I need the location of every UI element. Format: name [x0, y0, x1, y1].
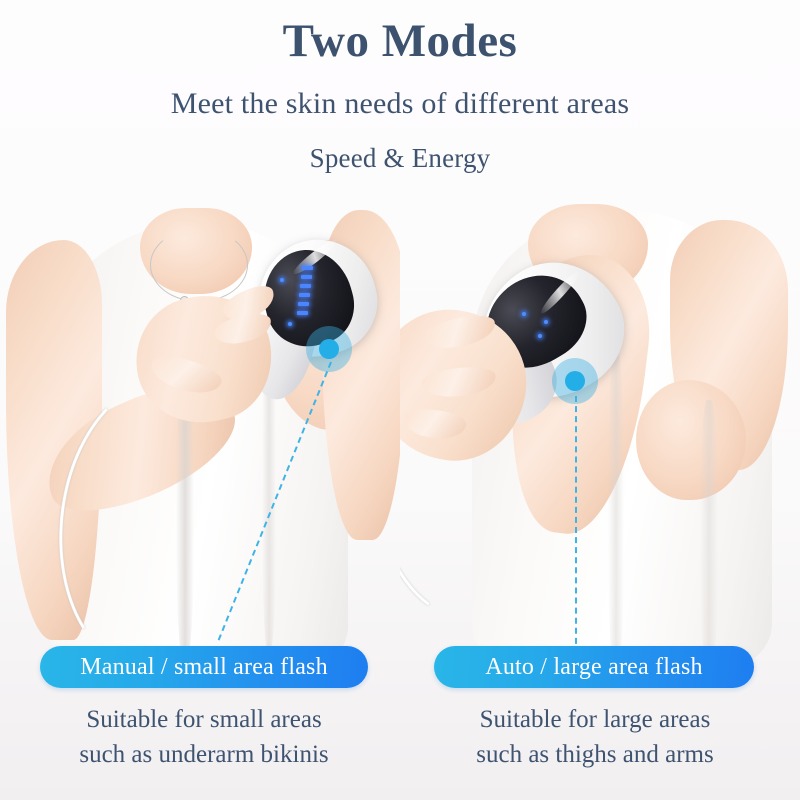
device-power-led [280, 278, 284, 282]
device-led-indicator [302, 266, 313, 270]
device-led-indicator [301, 275, 312, 279]
scene-manual-mode [0, 200, 400, 670]
header: Two Modes Meet the skin needs of differe… [0, 0, 800, 174]
device-led-indicator [298, 302, 309, 306]
device-status-led [288, 322, 292, 326]
caption-line-2: such as thighs and arms [432, 738, 758, 773]
mode-badge-manual[interactable]: Manual / small area flash [40, 646, 368, 688]
device-led-indicator [299, 293, 310, 297]
device-led-indicator [300, 284, 311, 288]
mode-badge-auto[interactable]: Auto / large area flash [434, 646, 754, 688]
shirt-fold [700, 400, 718, 670]
caption-line-2: such as underarm bikinis [36, 738, 372, 773]
leader-line-auto [575, 396, 577, 664]
marker-core [319, 339, 339, 359]
flash-spot-marker-auto [552, 358, 598, 404]
device-led-indicator [538, 334, 542, 338]
device-led-indicator [297, 311, 308, 315]
caption-line-1: Suitable for small areas [36, 703, 372, 738]
page-subtitle: Meet the skin needs of different areas [0, 87, 800, 121]
model-elbow [636, 380, 746, 500]
flash-spot-marker-manual [306, 326, 352, 372]
page-tagline: Speed & Energy [0, 143, 800, 174]
caption-line-1: Suitable for large areas [432, 703, 758, 738]
device-led-indicator [522, 312, 526, 316]
page-title: Two Modes [0, 16, 800, 68]
product-photo-stage [0, 200, 800, 670]
device-led-indicator [544, 320, 548, 324]
marker-core [565, 371, 585, 391]
mode-caption-manual: Suitable for small areas such as underar… [36, 703, 372, 772]
mode-caption-auto: Suitable for large areas such as thighs … [432, 703, 758, 772]
scene-auto-mode [400, 200, 800, 670]
promo-page: Two Modes Meet the skin needs of differe… [0, 0, 800, 800]
necklace [150, 228, 248, 302]
